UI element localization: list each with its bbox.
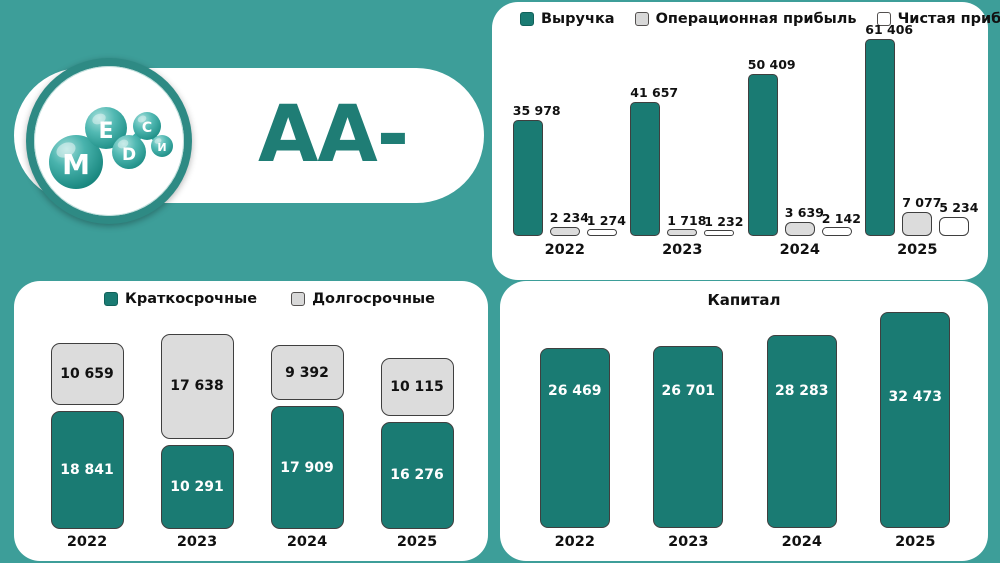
axis-tick-label: 2022 bbox=[545, 242, 585, 258]
bar-value: 3 639 bbox=[785, 205, 815, 220]
medsi-logo: М Е D С И bbox=[34, 66, 184, 216]
bar-wrap-revenue: 35 978 bbox=[513, 120, 543, 236]
debt-group-2023: 17 638 10 291 2023 bbox=[142, 318, 252, 550]
logo-letter-m: М bbox=[62, 148, 90, 181]
axis-tick-label: 2022 bbox=[555, 534, 595, 550]
capital-chart: 26 469 2022 26 701 2023 28 283 2024 32 4… bbox=[518, 312, 972, 550]
revenue-group-2022: 35 978 2 234 1 274 2022 bbox=[506, 36, 624, 258]
legend-label: Краткосрочные bbox=[125, 291, 257, 307]
bar-value: 61 406 bbox=[865, 22, 895, 37]
bar-value: 17 909 bbox=[272, 460, 343, 476]
bar-value: 9 392 bbox=[272, 365, 343, 381]
table-row[interactable]: 16 276 bbox=[381, 422, 454, 529]
bar-value: 50 409 bbox=[748, 57, 778, 72]
bar-value: 2 142 bbox=[822, 211, 852, 226]
bar-wrap-revenue: 61 406 bbox=[865, 39, 895, 236]
axis-tick-label: 2024 bbox=[287, 534, 327, 550]
table-row[interactable] bbox=[748, 74, 778, 236]
swatch-icon bbox=[291, 292, 305, 306]
table-row[interactable]: 10 115 bbox=[381, 358, 454, 416]
revenue-group-2024: 50 409 3 639 2 142 2024 bbox=[741, 36, 859, 258]
table-row[interactable]: 18 841 bbox=[51, 411, 124, 529]
table-row[interactable] bbox=[667, 229, 697, 236]
bar-value: 32 473 bbox=[881, 389, 949, 405]
capital-group-2023: 26 701 2023 bbox=[632, 312, 746, 550]
debt-group-2025: 10 115 16 276 2025 bbox=[362, 318, 472, 550]
bar-wrap-revenue: 50 409 bbox=[748, 74, 778, 236]
bar-wrap-operating: 2 234 bbox=[550, 227, 580, 236]
axis-tick-label: 2023 bbox=[668, 534, 708, 550]
axis-tick-label: 2023 bbox=[662, 242, 702, 258]
logo-letter-e: Е bbox=[98, 119, 113, 144]
axis-tick-label: 2024 bbox=[782, 534, 822, 550]
legend-label: Выручка bbox=[541, 11, 615, 27]
infographic-page: М Е D С И AA- Выручка Операционная прибы… bbox=[0, 0, 1000, 563]
legend-label: Долгосрочные bbox=[312, 291, 435, 307]
legend-item-revenue[interactable]: Выручка bbox=[520, 11, 615, 27]
table-row[interactable] bbox=[822, 227, 852, 236]
debt-legend: Краткосрочные Долгосрочные bbox=[104, 288, 435, 310]
table-row[interactable] bbox=[902, 212, 932, 236]
table-row[interactable] bbox=[513, 120, 543, 236]
legend-item-short-term[interactable]: Краткосрочные bbox=[104, 291, 257, 307]
table-row[interactable] bbox=[785, 222, 815, 236]
legend-item-long-term[interactable]: Долгосрочные bbox=[291, 291, 435, 307]
bar-value: 2 234 bbox=[550, 210, 580, 225]
debt-group-2024: 9 392 17 909 2024 bbox=[252, 318, 362, 550]
swatch-icon bbox=[635, 12, 649, 26]
axis-tick-label: 2022 bbox=[67, 534, 107, 550]
table-row[interactable]: 32 473 bbox=[880, 312, 950, 528]
table-row[interactable]: 17 909 bbox=[271, 406, 344, 529]
bar-wrap-operating: 7 077 bbox=[902, 212, 932, 236]
bar-value: 28 283 bbox=[768, 383, 836, 399]
bar-value: 1 718 bbox=[667, 213, 697, 228]
bar-value: 18 841 bbox=[52, 462, 123, 478]
table-row[interactable] bbox=[865, 39, 895, 236]
bar-value: 1 232 bbox=[704, 214, 734, 229]
table-row[interactable]: 17 638 bbox=[161, 334, 234, 439]
bar-wrap-net: 1 232 bbox=[704, 230, 734, 236]
table-row[interactable] bbox=[587, 229, 617, 236]
bar-wrap-net: 2 142 bbox=[822, 227, 852, 236]
bar-wrap-operating: 1 718 bbox=[667, 229, 697, 236]
logo-ring: М Е D С И bbox=[26, 58, 192, 224]
axis-tick-label: 2025 bbox=[897, 242, 937, 258]
logo-letter-i: И bbox=[157, 141, 166, 154]
table-row[interactable] bbox=[550, 227, 580, 236]
bar-value: 10 659 bbox=[52, 366, 123, 382]
capital-group-2022: 26 469 2022 bbox=[518, 312, 632, 550]
bar-value: 5 234 bbox=[939, 200, 969, 215]
axis-tick-label: 2025 bbox=[895, 534, 935, 550]
logo-letter-d: D bbox=[122, 145, 136, 165]
swatch-icon bbox=[104, 292, 118, 306]
table-row[interactable]: 10 659 bbox=[51, 343, 124, 405]
bar-wrap-revenue: 41 657 bbox=[630, 102, 660, 236]
bar-wrap-net: 5 234 bbox=[939, 217, 969, 236]
molecule-icon: М Е D С И bbox=[34, 66, 184, 216]
table-row[interactable] bbox=[630, 102, 660, 236]
credit-rating: AA- bbox=[258, 86, 458, 184]
bar-value: 10 115 bbox=[382, 379, 453, 395]
page-title: Капитал bbox=[500, 291, 988, 309]
bar-value: 35 978 bbox=[513, 103, 543, 118]
table-row[interactable]: 9 392 bbox=[271, 345, 344, 400]
axis-tick-label: 2023 bbox=[177, 534, 217, 550]
table-row[interactable] bbox=[939, 217, 969, 236]
bar-wrap-net: 1 274 bbox=[587, 229, 617, 236]
bar-value: 1 274 bbox=[587, 213, 617, 228]
table-row[interactable]: 26 701 bbox=[653, 346, 723, 528]
bar-value: 26 701 bbox=[654, 383, 722, 399]
bar-value: 41 657 bbox=[630, 85, 660, 100]
bar-wrap-operating: 3 639 bbox=[785, 222, 815, 236]
debt-group-2022: 10 659 18 841 2022 bbox=[32, 318, 142, 550]
table-row[interactable]: 10 291 bbox=[161, 445, 234, 529]
revenue-chart: 35 978 2 234 1 274 2022 41 657 bbox=[506, 36, 976, 258]
legend-item-operating-profit[interactable]: Операционная прибыль bbox=[635, 11, 857, 27]
bar-value: 17 638 bbox=[162, 378, 233, 394]
logo-letter-s: С bbox=[142, 120, 152, 136]
capital-group-2025: 32 473 2025 bbox=[859, 312, 973, 550]
axis-tick-label: 2024 bbox=[780, 242, 820, 258]
axis-tick-label: 2025 bbox=[397, 534, 437, 550]
capital-group-2024: 28 283 2024 bbox=[745, 312, 859, 550]
bar-value: 7 077 bbox=[902, 195, 932, 210]
revenue-legend: Выручка Операционная прибыль Чистая приб… bbox=[520, 8, 1000, 30]
table-row[interactable]: 26 469 bbox=[540, 348, 610, 528]
bar-value: 16 276 bbox=[382, 467, 453, 483]
revenue-group-2025: 61 406 7 077 5 234 2025 bbox=[859, 36, 977, 258]
table-row[interactable]: 28 283 bbox=[767, 335, 837, 528]
bar-value: 10 291 bbox=[162, 479, 233, 495]
table-row[interactable] bbox=[704, 230, 734, 236]
legend-label: Операционная прибыль bbox=[656, 11, 857, 27]
swatch-icon bbox=[520, 12, 534, 26]
bar-value: 26 469 bbox=[541, 383, 609, 399]
revenue-group-2023: 41 657 1 718 1 232 2023 bbox=[624, 36, 742, 258]
debt-chart: 10 659 18 841 2022 17 638 10 291 2023 bbox=[32, 318, 472, 550]
